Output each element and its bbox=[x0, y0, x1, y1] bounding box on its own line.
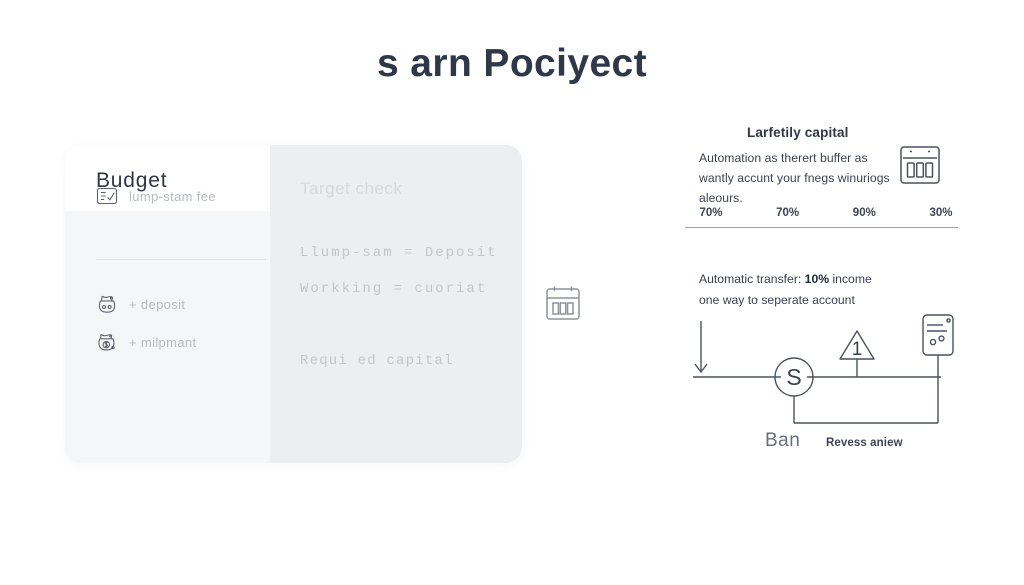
budget-row-label: + milpmant bbox=[129, 335, 196, 350]
transfer-suffix: income bbox=[829, 272, 872, 286]
right-column: Larfetily capital Automation as therert … bbox=[685, 125, 960, 455]
money-bag-icon bbox=[96, 293, 118, 315]
target-check-line-1: Llump-sam = Deposit bbox=[300, 245, 498, 261]
transfer-value: 10% bbox=[805, 272, 829, 286]
alert-triangle-icon: 1 bbox=[840, 331, 874, 377]
capital-title: Larfetily capital bbox=[747, 125, 849, 140]
flow-return-loop bbox=[794, 377, 938, 423]
money-bag-dollar-icon bbox=[96, 331, 118, 353]
transfer-prefix: Automatic transfer: bbox=[699, 272, 805, 286]
budget-row-label: lump-stam fee bbox=[129, 189, 216, 204]
percentage-value: 70% bbox=[694, 207, 728, 219]
budget-card: Budget lump-stam fee bbox=[65, 145, 522, 463]
down-arrow-icon bbox=[695, 321, 707, 372]
target-check-line-2: Workking = cuoriat bbox=[300, 281, 487, 297]
budget-row-lump-stam-fee[interactable]: lump-stam fee bbox=[96, 185, 216, 207]
transfer-note: Automatic transfer: 10% income one way t… bbox=[699, 269, 934, 311]
percentage-row: 70% 70% 90% 30% bbox=[694, 207, 958, 219]
server-device-icon bbox=[923, 315, 953, 377]
flow-label-bank: Ban bbox=[765, 430, 800, 452]
node-label: S bbox=[786, 364, 801, 390]
flow-label-review: Revess aniew bbox=[826, 437, 903, 449]
percentage-rule bbox=[685, 227, 958, 228]
budget-divider bbox=[96, 259, 266, 260]
transfer-flow-diagram: S 1 bbox=[685, 311, 960, 461]
document-checklist-icon bbox=[96, 185, 118, 207]
calendar-grid-icon bbox=[897, 142, 943, 188]
capital-description: Automation as therert buffer as wantly a… bbox=[699, 148, 899, 208]
budget-row-deposit[interactable]: + deposit bbox=[96, 293, 185, 315]
percentage-value: 90% bbox=[847, 207, 881, 219]
target-check-title: Target check bbox=[300, 179, 402, 199]
svg-text:1: 1 bbox=[852, 339, 863, 360]
target-check-panel: Target check Llump-sam = Deposit Workkin… bbox=[270, 145, 522, 463]
canvas: s arn Pociyect Budget lump-stam fee bbox=[0, 0, 1024, 585]
calendar-grid-icon bbox=[543, 283, 583, 323]
percentage-value: 30% bbox=[924, 207, 958, 219]
target-check-line-3: Requi ed capital bbox=[300, 353, 454, 369]
percentage-value: 70% bbox=[771, 207, 805, 219]
budget-row-milpmant[interactable]: + milpmant bbox=[96, 331, 196, 353]
budget-row-label: + deposit bbox=[129, 297, 185, 312]
transfer-line-2: one way to seperate account bbox=[699, 293, 855, 307]
page-title: s arn Pociyect bbox=[0, 42, 1024, 86]
